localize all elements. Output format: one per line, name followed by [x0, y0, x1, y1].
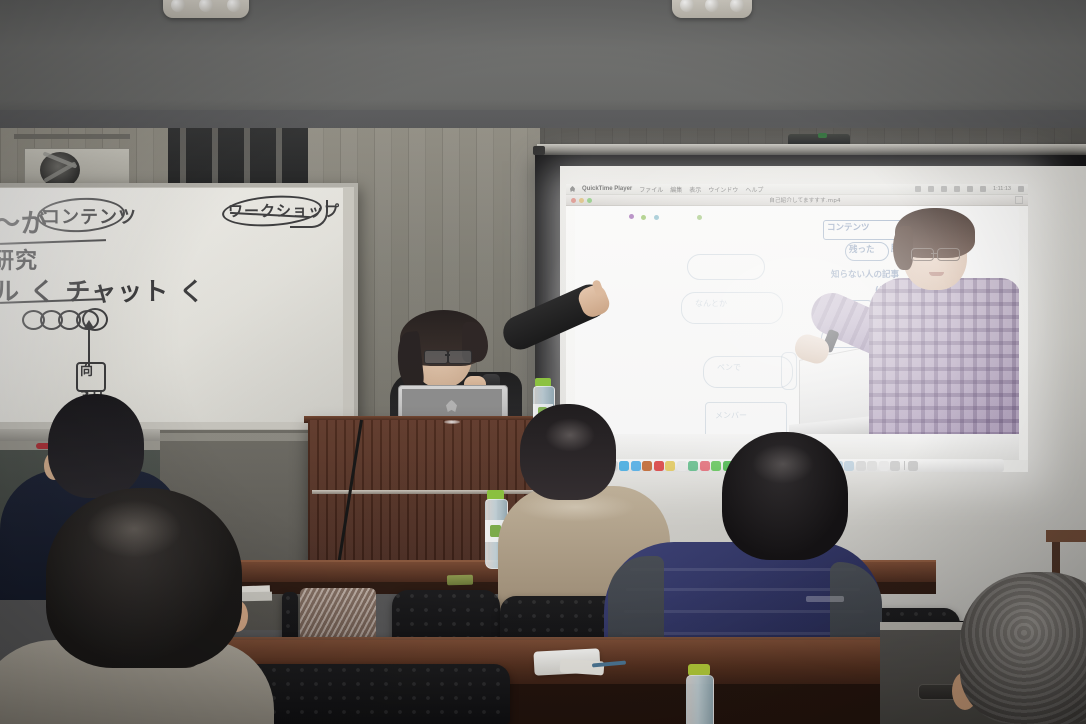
presenter-glasses-left [424, 350, 448, 364]
hair-highlight [86, 500, 182, 558]
water-bottle-front [686, 675, 714, 724]
video-person-mouth [929, 272, 944, 276]
stack-icon[interactable] [856, 461, 866, 471]
audience-back-left-head [48, 394, 144, 498]
fullscreen-icon[interactable] [1015, 196, 1023, 204]
podium-light-reflection [444, 420, 460, 424]
menubar-clock[interactable]: 1:11:13 [993, 186, 1011, 192]
zoom-icon[interactable] [587, 198, 592, 203]
battery-status-icon[interactable] [980, 186, 986, 192]
ceiling-light-fixture-right [672, 0, 752, 18]
menu-item-edit[interactable]: 編集 [670, 185, 682, 194]
quicktime-titlebar[interactable]: 自己紹介してますすす.mp4 [566, 195, 1028, 206]
preview-icon[interactable] [867, 461, 877, 471]
video-person-glasses-bridge [931, 253, 938, 254]
file-icon[interactable] [879, 461, 889, 471]
menu-item-view[interactable]: 表示 [689, 185, 701, 194]
archive-icon[interactable] [890, 461, 900, 471]
video-person-hair-side [893, 226, 913, 270]
mail-icon[interactable] [631, 461, 641, 471]
hair-highlight [752, 444, 814, 484]
menu-item-help[interactable]: ヘルプ [745, 185, 763, 194]
projection-screen-roller [537, 144, 1086, 155]
presenter-glasses-bridge [445, 354, 450, 356]
menu-item-window[interactable]: ウインドウ [708, 185, 738, 194]
roller-device-indicator [818, 133, 827, 138]
volume-status-icon[interactable] [954, 186, 960, 192]
wifi-status-icon[interactable] [967, 186, 973, 192]
grey-hair-texture [960, 572, 1086, 724]
projected-desktop: QuickTime Player ファイル 編集 表示 ウインドウ ヘルプ 1:… [566, 184, 1028, 472]
side-cabinet-shelf [160, 433, 320, 441]
dropbox-status-icon[interactable] [915, 186, 921, 192]
wall-conduit [14, 134, 130, 139]
video-person [871, 208, 1019, 434]
photos-icon[interactable] [700, 461, 710, 471]
mac-menubar[interactable]: QuickTime Player ファイル 編集 表示 ウインドウ ヘルプ 1:… [566, 184, 1028, 195]
messages-icon[interactable] [711, 461, 721, 471]
minimize-icon[interactable] [579, 198, 584, 203]
safari-icon[interactable] [619, 461, 629, 471]
green-notebook [447, 575, 473, 585]
video-canvas[interactable]: なんとか ペンで メンバー コンテンツ 残った 脳内 知らない人の記事 (はね … [575, 206, 1019, 434]
ceiling-light-fixture-left [163, 0, 249, 18]
jacket-logo [806, 596, 844, 602]
side-table [1046, 530, 1086, 542]
apple-menu-icon[interactable] [570, 186, 575, 192]
display-status-icon[interactable] [941, 186, 947, 192]
video-person-glasses-right [937, 248, 960, 261]
podium-rail [312, 490, 544, 494]
notes-icon[interactable] [665, 461, 675, 471]
whiteboard-glare [0, 188, 343, 422]
close-icon[interactable] [571, 198, 576, 203]
wall-recess-grille [168, 128, 308, 190]
menu-item-file[interactable]: ファイル [639, 185, 663, 194]
video-person-plaid-shirt [869, 278, 1019, 434]
quicktime-window-title: 自己紹介してますすす.mp4 [595, 196, 1015, 204]
trash-icon[interactable] [908, 461, 918, 471]
calendar-icon[interactable] [654, 461, 664, 471]
spotlight-icon[interactable] [1018, 186, 1024, 192]
reminders-icon[interactable] [677, 461, 687, 471]
video-person-glasses-left [911, 248, 934, 261]
tissues-on-table [560, 658, 605, 675]
hair-highlight [545, 418, 595, 452]
roller-end-cap [533, 146, 545, 155]
dock-separator [904, 461, 905, 470]
menubar-app-name[interactable]: QuickTime Player [582, 186, 632, 192]
contacts-icon[interactable] [642, 461, 652, 471]
bluetooth-status-icon[interactable] [928, 186, 934, 192]
presenter-glasses-right [448, 350, 472, 364]
maps-icon[interactable] [688, 461, 698, 471]
seminar-room-photo: 〜が コンテンツ ワークショップ 研究 ル く チャット く 向 3リ Quic… [0, 0, 1086, 724]
folder-documents-icon[interactable] [844, 461, 854, 471]
